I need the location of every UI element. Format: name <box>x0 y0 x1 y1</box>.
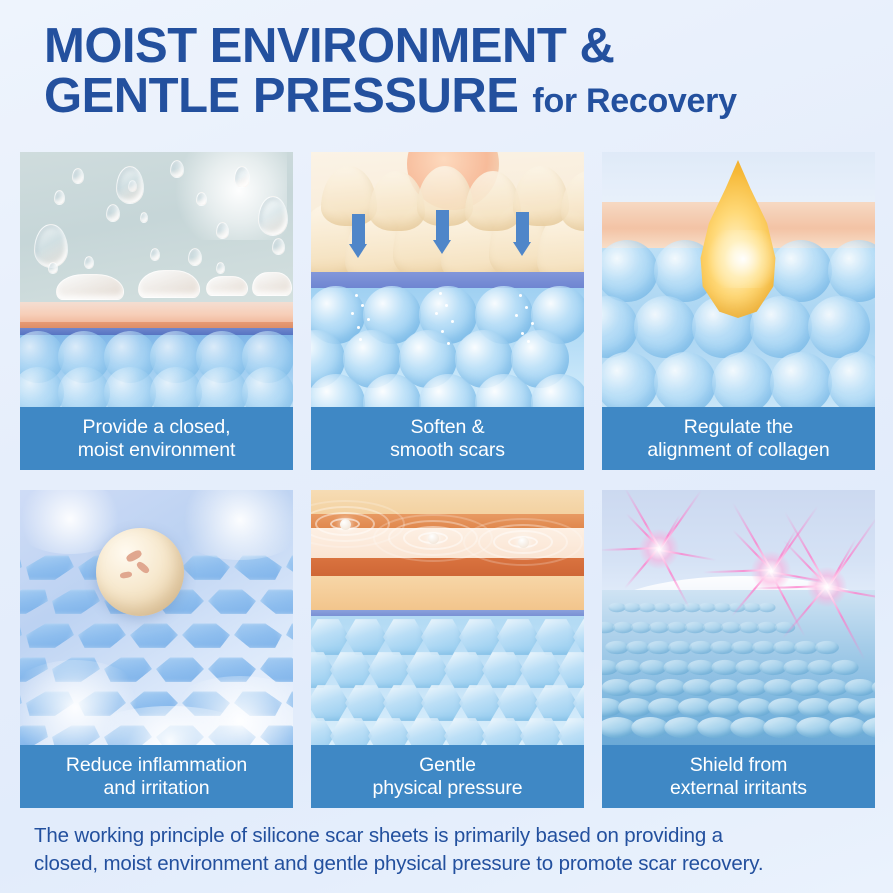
decorative-shape <box>828 698 862 717</box>
benefit-card-regulate-collagen-alignment[interactable]: Regulate the alignment of collagen <box>602 152 875 470</box>
footer-description: The working principle of silicone scar s… <box>34 822 864 879</box>
benefit-caption-shield-external-irritants: Shield from external irritants <box>602 745 875 808</box>
decorative-shape <box>71 623 129 649</box>
benefit-image-regulate-collagen-alignment <box>602 152 875 407</box>
cell-sphere-icon <box>96 528 184 616</box>
decorative-shape <box>258 196 288 236</box>
decorative-shape <box>697 717 734 738</box>
footer-line-2: closed, moist environment and gentle phy… <box>34 850 864 878</box>
decorative-shape <box>602 296 638 358</box>
decorative-shape <box>20 555 80 581</box>
decorative-shape <box>521 332 524 335</box>
decorative-shape <box>106 204 120 222</box>
decorative-shape <box>153 657 204 683</box>
decorative-shape <box>361 304 364 307</box>
decorative-shape <box>439 292 442 295</box>
decorative-shape <box>242 367 293 407</box>
page-title-line-2: GENTLE PRESSURE for Recovery <box>44 72 893 122</box>
decorative-shape <box>654 352 716 407</box>
decorative-shape <box>357 326 360 329</box>
decorative-shape <box>127 623 178 649</box>
decorative-shape <box>808 296 870 358</box>
decorative-shape <box>602 240 658 302</box>
decorative-shape <box>351 312 354 315</box>
caption-line-2: external irritants <box>670 777 807 800</box>
decorative-shape <box>664 717 701 738</box>
caption-line-1: Soften & <box>410 416 484 439</box>
decorative-shape <box>272 238 285 255</box>
benefit-image-shield-external-irritants <box>602 490 875 745</box>
decorative-shape <box>231 623 288 649</box>
decorative-shape <box>116 166 144 204</box>
decorative-shape <box>428 533 439 544</box>
benefit-caption-reduce-inflammation: Reduce inflammation and irritation <box>20 745 293 808</box>
decorative-shape <box>257 589 293 615</box>
decorative-shape <box>170 160 184 178</box>
decorative-shape <box>831 660 858 675</box>
caption-line-2: alignment of collagen <box>647 439 829 462</box>
decorative-shape <box>828 240 875 302</box>
decorative-shape <box>435 312 438 315</box>
decorative-shape <box>602 352 658 407</box>
benefits-grid: Provide a closed, moist environment Soft… <box>20 152 875 808</box>
decorative-shape <box>234 166 250 188</box>
decorative-shape <box>712 352 774 407</box>
decorative-shape <box>359 338 362 341</box>
decorative-shape <box>441 330 444 333</box>
benefit-image-closed-moist-environment <box>20 152 293 407</box>
caption-line-1: Shield from <box>690 754 788 777</box>
decorative-shape <box>768 698 802 717</box>
caption-line-2: moist environment <box>78 439 236 462</box>
caption-line-1: Regulate the <box>684 416 793 439</box>
decorative-shape <box>730 717 767 738</box>
caption-line-2: physical pressure <box>372 777 522 800</box>
decorative-shape <box>815 641 839 654</box>
decorative-shape <box>20 623 293 649</box>
decorative-shape <box>447 342 450 345</box>
decorative-shape <box>658 548 659 549</box>
decorative-shape <box>770 352 832 407</box>
decorative-shape <box>216 262 225 274</box>
decorative-shape <box>196 192 207 206</box>
decorative-shape <box>826 586 827 587</box>
benefit-caption-gentle-physical-pressure: Gentle physical pressure <box>311 745 584 808</box>
decorative-shape <box>708 698 742 717</box>
caption-line-2: and irritation <box>104 777 210 800</box>
decorative-shape <box>770 570 771 571</box>
decorative-shape <box>648 698 682 717</box>
decorative-shape <box>525 306 528 309</box>
decorative-shape <box>188 248 202 266</box>
decorative-shape <box>678 698 712 717</box>
decorative-shape <box>519 294 522 297</box>
decorative-shape <box>54 190 65 205</box>
caption-line-2: smooth scars <box>390 439 505 462</box>
decorative-shape <box>618 698 652 717</box>
caption-line-1: Provide a closed, <box>83 416 231 439</box>
caption-line-1: Reduce inflammation <box>66 754 247 777</box>
caption-line-1: Gentle <box>419 754 476 777</box>
decorative-shape <box>451 320 454 323</box>
decorative-shape <box>84 256 94 269</box>
decorative-shape <box>763 717 800 738</box>
benefit-card-gentle-physical-pressure[interactable]: Gentle physical pressure <box>311 490 584 808</box>
decorative-shape <box>208 589 259 615</box>
benefit-image-gentle-physical-pressure <box>311 490 584 745</box>
page-title-subtitle: for Recovery <box>532 84 736 119</box>
decorative-shape <box>829 717 866 738</box>
decorative-shape <box>828 352 875 407</box>
decorative-shape <box>631 717 668 738</box>
benefit-card-closed-moist-environment[interactable]: Provide a closed, moist environment <box>20 152 293 470</box>
decorative-shape <box>367 318 370 321</box>
decorative-shape <box>216 222 229 239</box>
decorative-shape <box>280 555 293 581</box>
decorative-shape <box>759 603 776 613</box>
decorative-shape <box>798 698 832 717</box>
decorative-shape <box>20 623 80 649</box>
benefit-caption-soften-smooth-scars: Soften & smooth scars <box>311 407 584 470</box>
decorative-shape <box>355 294 358 297</box>
decorative-shape <box>634 296 696 358</box>
decorative-shape <box>20 589 57 615</box>
page-title-emphasis: GENTLE PRESSURE <box>44 72 518 122</box>
decorative-shape <box>531 322 534 325</box>
decorative-shape <box>182 623 233 649</box>
decorative-shape <box>48 262 58 274</box>
page-title-line-1: MOIST ENVIRONMENT & <box>44 22 893 72</box>
decorative-shape <box>518 537 529 548</box>
benefit-card-soften-smooth-scars[interactable]: Soften & smooth scars <box>311 152 584 470</box>
benefit-caption-closed-moist-environment: Provide a closed, moist environment <box>20 407 293 470</box>
decorative-shape <box>42 589 106 615</box>
decorative-shape <box>527 340 530 343</box>
decorative-shape <box>796 717 833 738</box>
decorative-shape <box>515 314 518 317</box>
decorative-shape <box>340 519 351 530</box>
decorative-shape <box>140 212 148 223</box>
footer-line-1: The working principle of silicone scar s… <box>34 822 864 850</box>
decorative-shape <box>280 623 293 649</box>
benefit-card-shield-external-irritants[interactable]: Shield from external irritants <box>602 490 875 808</box>
decorative-shape <box>445 304 448 307</box>
decorative-shape <box>72 168 84 184</box>
page-header: MOIST ENVIRONMENT & GENTLE PRESSURE for … <box>0 0 893 122</box>
benefit-caption-regulate-collagen-alignment: Regulate the alignment of collagen <box>602 407 875 470</box>
decorative-shape <box>845 679 875 696</box>
benefit-card-reduce-inflammation[interactable]: Reduce inflammation and irritation <box>20 490 293 808</box>
benefit-image-soften-smooth-scars <box>311 152 584 407</box>
decorative-shape <box>738 698 772 717</box>
benefit-image-reduce-inflammation <box>20 490 293 745</box>
decorative-shape <box>150 248 160 261</box>
